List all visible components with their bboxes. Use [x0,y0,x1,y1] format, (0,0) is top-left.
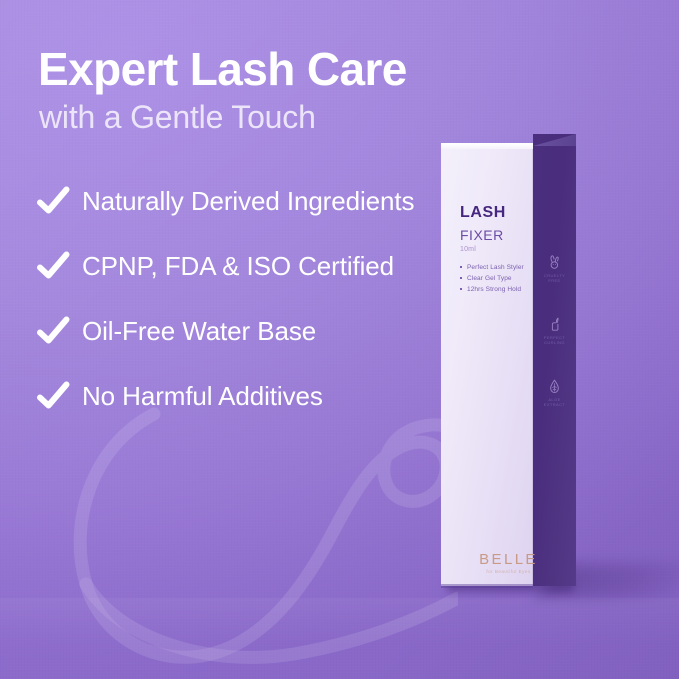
leaf-drop-icon [546,378,563,395]
check-icon [36,379,70,413]
check-icon [36,249,70,283]
page-subtitle: with a Gentle Touch [39,98,458,136]
side-badge-group: CRUELTY FREE PERFECT CURLING [533,134,576,586]
hero-copy: Expert Lash Care with a Gentle Touch [38,44,458,136]
curling-lash-icon [546,316,563,333]
side-badge: PERFECT CURLING [533,316,576,345]
surface-horizon [0,598,679,678]
product-front-copy: LASH FIXER 10ml Perfect Lash Styler Clea… [460,204,532,295]
product-feature: 12hrs Strong Hold [460,284,532,295]
product-feature: Perfect Lash Styler [460,262,532,273]
benefit-label: Naturally Derived Ingredients [82,186,414,217]
list-item: Oil-Free Water Base [36,306,456,356]
benefits-list: Naturally Derived Ingredients CPNP, FDA … [36,176,456,436]
box-bottom-edge [441,584,533,588]
cursive-loop-flourish-icon [58,402,458,679]
product-feature: Clear Gel Type [460,273,532,284]
product-marketing-image: Expert Lash Care with a Gentle Touch Nat… [0,0,679,679]
list-item: Naturally Derived Ingredients [36,176,456,226]
rabbit-icon [546,254,563,271]
side-badge-label: PERFECT CURLING [533,335,576,345]
side-badge: CRUELTY FREE [533,254,576,283]
side-badge-label: ALOE EXTRACT [533,397,576,407]
side-badge-label: CRUELTY FREE [533,273,576,283]
benefit-label: CPNP, FDA & ISO Certified [82,251,394,282]
benefit-label: Oil-Free Water Base [82,316,316,347]
product-name: LASH [460,204,532,222]
side-badge: ALOE EXTRACT [533,378,576,407]
product-box: LASH FIXER 10ml Perfect Lash Styler Clea… [441,134,576,612]
product-volume: 10ml [460,246,532,253]
list-item: CPNP, FDA & ISO Certified [36,241,456,291]
check-icon [36,314,70,348]
page-title: Expert Lash Care [38,44,458,94]
product-feature-list: Perfect Lash Styler Clear Gel Type 12hrs… [460,262,532,295]
list-item: No Harmful Additives [36,371,456,421]
box-top-front-edge [441,143,533,149]
check-icon [36,184,70,218]
product-subname: FIXER [460,227,532,243]
benefit-label: No Harmful Additives [82,381,323,412]
